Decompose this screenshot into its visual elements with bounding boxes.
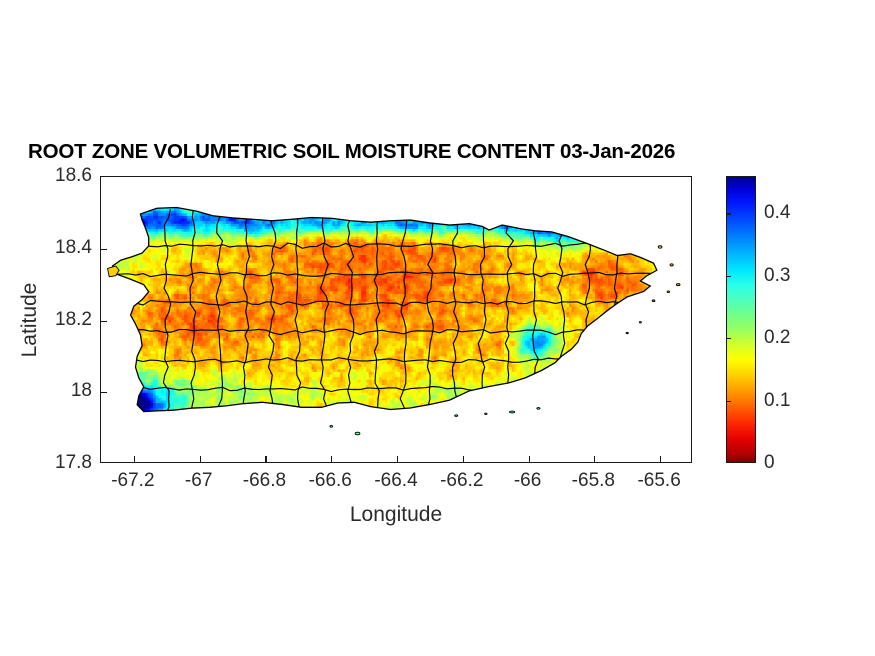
x-tick-label: -65.6	[637, 470, 680, 492]
y-tick-label: 18.4	[55, 237, 92, 259]
offshore-island	[510, 411, 515, 413]
colorbar[interactable]	[726, 176, 756, 463]
colorbar-tick	[726, 338, 731, 339]
offshore-island	[485, 413, 487, 414]
offshore-island	[355, 432, 360, 435]
x-tick	[265, 456, 266, 462]
x-tick	[397, 456, 398, 462]
map-axes[interactable]	[100, 176, 692, 463]
y-tick	[101, 249, 107, 250]
soil-moisture-heatmap	[101, 177, 693, 464]
x-axis-label: Longitude	[350, 503, 442, 527]
y-tick-label: 17.8	[55, 452, 92, 474]
y-tick-label: 18.6	[55, 165, 92, 187]
x-tick	[134, 456, 135, 462]
y-tick-label: 18.2	[55, 309, 92, 331]
colorbar-tick-label: 0.1	[764, 390, 790, 412]
colorbar-tick-label: 0	[764, 452, 775, 474]
x-tick-label: -65.8	[572, 470, 615, 492]
figure-canvas: ROOT ZONE VOLUMETRIC SOIL MOISTURE CONTE…	[0, 0, 875, 656]
y-tick-label: 18	[71, 380, 92, 402]
colorbar-tick	[726, 276, 731, 277]
x-tick-label: -67.2	[111, 470, 154, 492]
x-tick-label: -66.8	[243, 470, 286, 492]
offshore-island	[455, 415, 458, 417]
x-tick	[660, 456, 661, 462]
municipality-border	[610, 209, 618, 414]
x-tick-label: -67	[185, 470, 212, 492]
offshore-island	[330, 425, 333, 427]
offshore-island	[639, 322, 641, 323]
x-tick	[463, 456, 464, 462]
x-tick	[594, 456, 595, 462]
offshore-island	[537, 408, 540, 410]
x-tick-label: -66.6	[309, 470, 352, 492]
page-title: ROOT ZONE VOLUMETRIC SOIL MOISTURE CONTE…	[28, 140, 675, 164]
x-tick-label: -66.4	[374, 470, 417, 492]
y-axis-label: Latitude	[18, 283, 42, 358]
offshore-island	[676, 284, 680, 286]
offshore-island	[667, 291, 669, 293]
x-tick-label: -66.2	[440, 470, 483, 492]
x-tick-label: -66	[514, 470, 541, 492]
offshore-island	[670, 264, 673, 266]
colorbar-tick-label: 0.3	[764, 265, 790, 287]
colorbar-tick-label: 0.2	[764, 327, 790, 349]
x-tick	[331, 456, 332, 462]
y-tick	[101, 392, 107, 393]
x-tick	[200, 456, 201, 462]
x-tick	[529, 456, 530, 462]
offshore-island	[626, 332, 628, 333]
colorbar-tick	[726, 213, 731, 214]
colorbar-tick	[726, 401, 731, 402]
offshore-island	[652, 300, 655, 302]
colorbar-tick-label: 0.4	[764, 202, 790, 224]
y-tick	[101, 321, 107, 322]
offshore-island	[658, 246, 662, 248]
